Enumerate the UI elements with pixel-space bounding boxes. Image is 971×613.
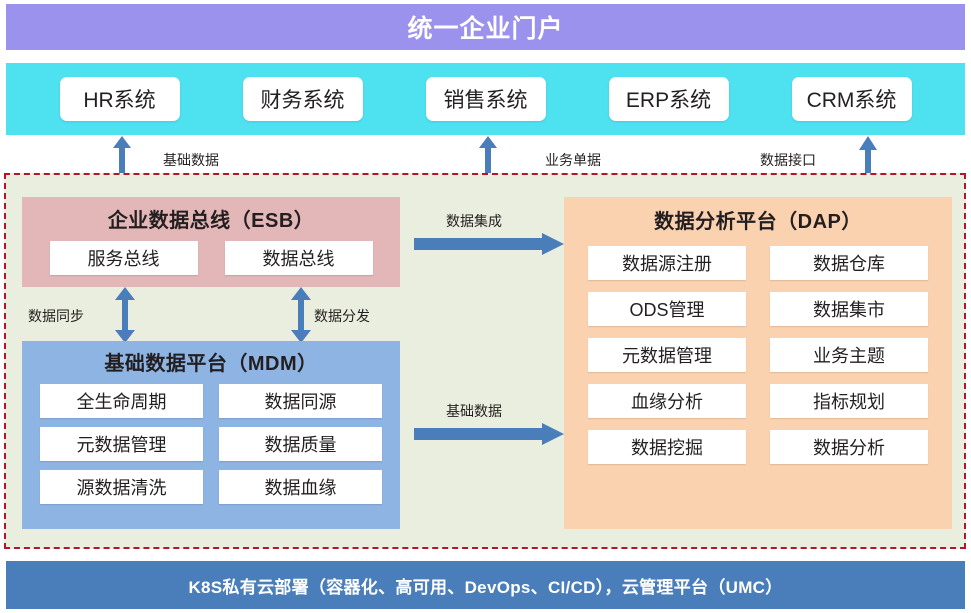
dap-item-datasource-registry[interactable]: 数据源注册 <box>588 246 746 280</box>
esb-items: 服务总线 数据总线 <box>22 233 400 275</box>
portal-banner: 统一企业门户 <box>6 4 965 50</box>
esb-item-label: 服务总线 <box>88 245 160 271</box>
esb-title: 企业数据总线（ESB） <box>22 197 400 233</box>
integration-arrow-basic-data <box>414 423 564 443</box>
mdm-item-data-lineage[interactable]: 数据血缘 <box>219 470 382 504</box>
mdm-item-label: 数据血缘 <box>265 474 337 500</box>
app-box-crm[interactable]: CRM系统 <box>792 77 912 121</box>
dap-item-label: 数据分析 <box>813 434 885 460</box>
app-label: 财务系统 <box>261 84 345 114</box>
esb-item-service-bus[interactable]: 服务总线 <box>50 241 198 275</box>
dap-item-metric-planning[interactable]: 指标规划 <box>770 384 928 418</box>
integration-arrow-data-integration <box>414 233 564 253</box>
dap-item-label: 指标规划 <box>813 388 885 414</box>
dap-item-label: 数据仓库 <box>813 250 885 276</box>
internal-arrow-data-sync <box>114 287 136 343</box>
mdm-item-metadata-mgmt[interactable]: 元数据管理 <box>40 427 203 461</box>
dap-item-label: 数据挖掘 <box>631 434 703 460</box>
dap-item-data-warehouse[interactable]: 数据仓库 <box>770 246 928 280</box>
dap-title: 数据分析平台（DAP） <box>564 197 952 234</box>
mdm-item-lifecycle[interactable]: 全生命周期 <box>40 384 203 418</box>
mdm-title: 基础数据平台（MDM） <box>22 341 400 376</box>
dap-item-label: 血缘分析 <box>631 388 703 414</box>
internal-label-data-distribution: 数据分发 <box>314 306 370 326</box>
dap-item-data-mart[interactable]: 数据集市 <box>770 292 928 326</box>
internal-label-data-sync: 数据同步 <box>28 306 84 326</box>
integration-label-data-integration: 数据集成 <box>446 211 502 231</box>
mdm-item-label: 全生命周期 <box>77 388 167 414</box>
app-label: 销售系统 <box>444 84 528 114</box>
dap-items: 数据源注册 数据仓库 ODS管理 数据集市 元数据管理 业务主题 <box>564 234 952 464</box>
mdm-item-label: 数据同源 <box>265 388 337 414</box>
app-label: HR系统 <box>83 84 155 114</box>
connector-label-data-interface: 数据接口 <box>760 150 816 170</box>
dap-item-label: 数据集市 <box>813 296 885 322</box>
dap-item-label: 数据源注册 <box>622 250 712 276</box>
applications-band: HR系统 财务系统 销售系统 ERP系统 CRM系统 <box>6 63 965 135</box>
mdm-items: 全生命周期 数据同源 元数据管理 数据质量 源数据清洗 数据血缘 <box>22 376 400 504</box>
dap-item-lineage-analysis[interactable]: 血缘分析 <box>588 384 746 418</box>
app-box-erp[interactable]: ERP系统 <box>609 77 729 121</box>
infrastructure-bar: K8S私有云部署（容器化、高可用、DevOps、CI/CD），云管理平台（UMC… <box>6 561 965 609</box>
dap-item-metadata-mgmt[interactable]: 元数据管理 <box>588 338 746 372</box>
connector-label-basic-data: 基础数据 <box>163 150 219 170</box>
dap-item-label: 业务主题 <box>813 342 885 368</box>
dap-item-label: 元数据管理 <box>622 342 712 368</box>
app-label: CRM系统 <box>807 84 897 114</box>
app-box-hr[interactable]: HR系统 <box>60 77 180 121</box>
app-label: ERP系统 <box>626 84 711 114</box>
portal-title: 统一企业门户 <box>407 9 563 45</box>
dap-item-data-mining[interactable]: 数据挖掘 <box>588 430 746 464</box>
esb-item-label: 数据总线 <box>263 245 335 271</box>
diagram-canvas: 统一企业门户 HR系统 财务系统 销售系统 ERP系统 CRM系统 基础数据 <box>0 0 971 613</box>
internal-arrow-data-distribution <box>290 287 312 343</box>
mdm-item-label: 元数据管理 <box>77 431 167 457</box>
mdm-item-data-quality[interactable]: 数据质量 <box>219 427 382 461</box>
dap-item-data-analysis[interactable]: 数据分析 <box>770 430 928 464</box>
app-box-sales[interactable]: 销售系统 <box>426 77 546 121</box>
platform-container: 企业数据总线（ESB） 服务总线 数据总线 数据同步 数据分发 <box>4 173 966 549</box>
dap-item-business-subject[interactable]: 业务主题 <box>770 338 928 372</box>
esb-block: 企业数据总线（ESB） 服务总线 数据总线 <box>22 197 400 287</box>
mdm-item-label: 数据质量 <box>265 431 337 457</box>
app-box-finance[interactable]: 财务系统 <box>243 77 363 121</box>
mdm-item-source-cleansing[interactable]: 源数据清洗 <box>40 470 203 504</box>
infrastructure-title: K8S私有云部署（容器化、高可用、DevOps、CI/CD），云管理平台（UMC… <box>188 573 782 598</box>
connector-label-business-doc: 业务单据 <box>545 150 601 170</box>
mdm-block: 基础数据平台（MDM） 全生命周期 数据同源 元数据管理 数据质量 源数据清洗 <box>22 341 400 529</box>
applications-row: HR系统 财务系统 销售系统 ERP系统 CRM系统 <box>6 63 965 135</box>
mdm-item-label: 源数据清洗 <box>77 474 167 500</box>
dap-item-ods-mgmt[interactable]: ODS管理 <box>588 292 746 326</box>
mdm-item-same-source[interactable]: 数据同源 <box>219 384 382 418</box>
esb-item-data-bus[interactable]: 数据总线 <box>225 241 373 275</box>
integration-label-basic-data: 基础数据 <box>446 401 502 421</box>
dap-item-label: ODS管理 <box>629 296 704 322</box>
dap-block: 数据分析平台（DAP） 数据源注册 数据仓库 ODS管理 数据集市 元数据管理 <box>564 197 952 529</box>
